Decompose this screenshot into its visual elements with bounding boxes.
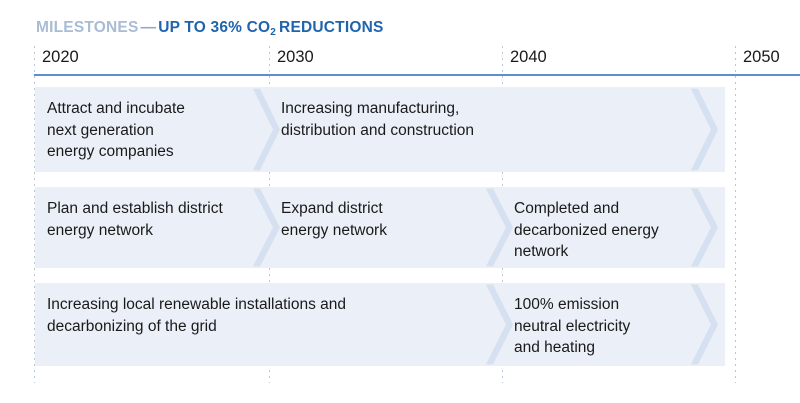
milestones-timeline-figure: MILESTONES—UP TO 36% CO2REDUCTIONS 20202… — [0, 0, 800, 403]
page-title: MILESTONES—UP TO 36% CO2REDUCTIONS — [36, 18, 384, 40]
milestone-text: Plan and establish district energy netwo… — [47, 198, 223, 241]
milestone-cell[interactable]: Increasing local renewable installations… — [35, 283, 502, 366]
milestone-text: Attract and incubate next generation ene… — [47, 98, 185, 163]
title-dash: — — [138, 19, 158, 36]
timeline-axis — [34, 46, 800, 77]
milestone-cell[interactable]: Attract and incubate next generation ene… — [35, 87, 269, 172]
milestone-cell[interactable]: Expand district energy network — [269, 187, 502, 268]
title-headline: UP TO 36% CO2REDUCTIONS — [158, 19, 383, 36]
milestone-text: Completed and decarbonized energy networ… — [514, 198, 659, 263]
timeline-year-2020: 2020 — [34, 46, 79, 68]
milestone-text: Increasing local renewable installations… — [47, 294, 346, 337]
title-headline-pre: UP TO 36% CO — [158, 19, 270, 36]
timeline-year-2030: 2030 — [269, 46, 314, 68]
milestone-text: 100% emission neutral electricity and he… — [514, 294, 630, 359]
row-renewables: Increasing local renewable installations… — [35, 283, 725, 366]
timeline-guide-2050 — [735, 46, 736, 383]
row-district-energy: Plan and establish district energy netwo… — [35, 187, 725, 268]
milestone-cell[interactable]: Plan and establish district energy netwo… — [35, 187, 269, 268]
title-milestones-label: MILESTONES — [36, 19, 138, 36]
milestone-text: Increasing manufacturing, distribution a… — [281, 98, 474, 141]
milestone-text: Expand district energy network — [281, 198, 387, 241]
milestone-cell[interactable]: 100% emission neutral electricity and he… — [502, 283, 725, 366]
milestone-cell[interactable]: Increasing manufacturing, distribution a… — [269, 87, 725, 172]
timeline-axis-rule — [34, 74, 800, 76]
timeline-year-2050: 2050 — [735, 46, 780, 68]
row-energy-companies: Attract and incubate next generation ene… — [35, 87, 725, 172]
milestone-cell[interactable]: Completed and decarbonized energy networ… — [502, 187, 725, 268]
timeline-year-2040: 2040 — [502, 46, 547, 68]
title-headline-post: REDUCTIONS — [279, 19, 383, 36]
title-co2-subscript: 2 — [270, 27, 279, 38]
